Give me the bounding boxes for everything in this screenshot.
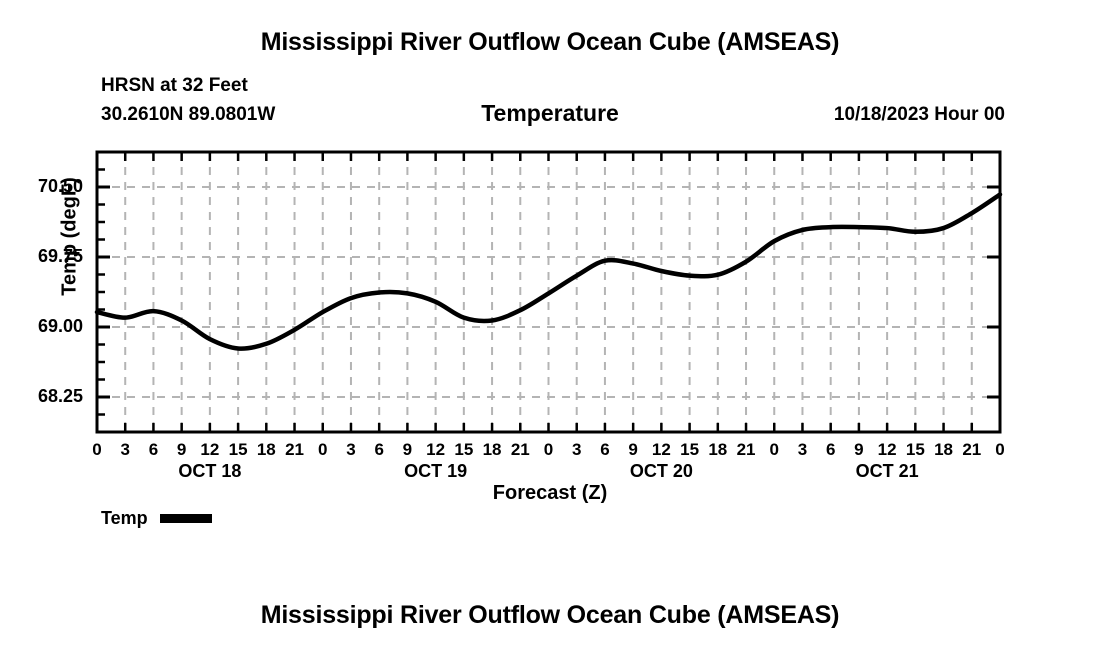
chart-legend: Temp	[101, 508, 212, 529]
station-depth-label: HRSN at 32 Feet	[101, 75, 248, 97]
legend-label-temp: Temp	[101, 508, 148, 529]
page-title-top: Mississippi River Outflow Ocean Cube (AM…	[0, 28, 1100, 57]
x-axis-title: Forecast (Z)	[0, 482, 1100, 505]
plot-area	[0, 0, 1100, 650]
y-axis-title: Temp (degF)	[59, 137, 82, 337]
page-title-bottom: Mississippi River Outflow Ocean Cube (AM…	[0, 601, 1100, 630]
x-day-label: OCT 18	[140, 461, 280, 482]
gridlines	[97, 152, 1000, 432]
chart-svg	[0, 0, 1100, 650]
x-day-label: OCT 20	[591, 461, 731, 482]
x-day-label: OCT 19	[366, 461, 506, 482]
series-temp-line	[97, 194, 1000, 348]
model-run-label: 10/18/2023 Hour 00	[834, 104, 1005, 126]
axis-ticks	[97, 152, 1000, 432]
y-tick-label: 69.75	[5, 246, 83, 267]
y-tick-label: 70.50	[5, 176, 83, 197]
plot-frame	[97, 152, 1000, 432]
x-day-label: OCT 21	[817, 461, 957, 482]
y-tick-label: 68.25	[5, 386, 83, 407]
legend-swatch-temp	[160, 514, 212, 523]
x-tick-label: 0	[980, 440, 1020, 460]
x-axis-title-text: Forecast (Z)	[493, 482, 607, 504]
chart-page: Mississippi River Outflow Ocean Cube (AM…	[0, 0, 1100, 650]
y-tick-label: 69.00	[5, 316, 83, 337]
